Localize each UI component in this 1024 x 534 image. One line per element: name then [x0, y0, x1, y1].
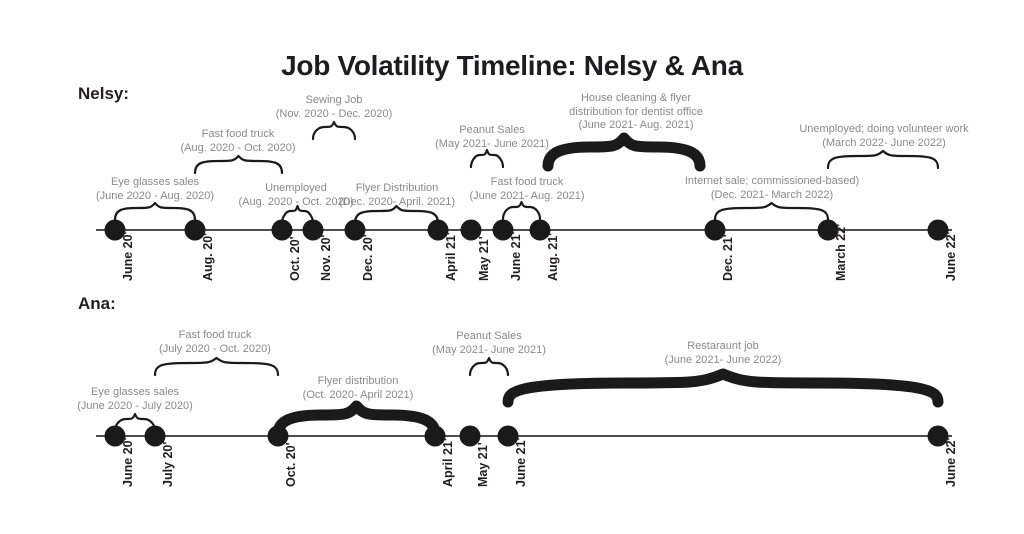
event-dates: (June 2021- Aug. 2021) [470, 190, 585, 204]
timeline-tick-label: Aug. 21' [546, 233, 560, 281]
timeline-tick-label: Aug. 20' [201, 233, 215, 281]
event-brace [195, 154, 282, 177]
timeline-tick-label: June 21' [509, 231, 523, 281]
timeline-tick-label: Dec. 21' [721, 234, 735, 281]
event-brace [115, 201, 195, 224]
event-dates: (June 2021- June 2022) [665, 354, 782, 368]
event-brace [278, 404, 435, 438]
event-brace [471, 148, 503, 171]
timeline-tick-label: April 21' [444, 232, 458, 281]
event-brace [313, 120, 355, 143]
event-title: Unemployed [239, 182, 354, 196]
event-dates: (Oct. 2020- April 2021) [303, 389, 414, 403]
event-dates: (May 2021- June 2021) [435, 138, 549, 152]
event-brace [155, 356, 278, 379]
event-brace [548, 136, 700, 170]
timeline-tick-label: Dec. 20' [361, 234, 375, 281]
timeline-tick-label: June 21' [514, 437, 528, 487]
person-label-ana: Ana: [78, 294, 116, 314]
timeline-tick-label: May 21' [477, 236, 491, 281]
event-dates: (Dec. 2021- March 2022) [685, 189, 859, 203]
timeline-tick-label: April 21' [441, 438, 455, 487]
event-title: House cleaning & flyer [569, 92, 703, 106]
event-title-line2: distribution for dentist office [569, 106, 703, 120]
event-title: Internet sale; commissioned-based) [685, 175, 859, 189]
event-title: Flyer Distribution [339, 182, 455, 196]
event-title: Sewing Job [276, 94, 393, 108]
timeline-tick-label: May 21' [476, 442, 490, 487]
event-brace [715, 201, 828, 224]
timeline-tick-label: June 22' [944, 231, 958, 281]
timeline-tick-label: July 20' [161, 442, 175, 487]
event-title: Eye glasses sales [77, 386, 193, 400]
event-title: Fast food truck [181, 128, 296, 142]
event-dates: (March 2022- June 2022) [799, 137, 968, 151]
timeline-infographic: Job Volatility Timeline: Nelsy & Ana Nel… [0, 0, 1024, 534]
event-dates: (June 2021- Aug. 2021) [569, 119, 703, 133]
event-dates: (June 2020 - July 2020) [77, 400, 193, 414]
event-title: Peanut Sales [432, 330, 546, 344]
page-title: Job Volatility Timeline: Nelsy & Ana [0, 50, 1024, 82]
event-brace [508, 372, 938, 406]
timeline-tick-label: Oct. 20' [284, 442, 298, 487]
event-title: Eye glasses sales [96, 176, 214, 190]
event-title: Flyer distribution [303, 375, 414, 389]
event-title: Fast food truck [470, 176, 585, 190]
event-dates: (Dec. 2020- April. 2021) [339, 196, 455, 210]
timeline-tick-label: Oct. 20' [288, 236, 302, 281]
event-title: Unemployed; doing volunteer work [799, 123, 968, 137]
event-title: Fast food truck [159, 329, 271, 343]
event-dates: (Aug. 2020 - Oct. 2020) [181, 142, 296, 156]
person-label-nelsy: Nelsy: [78, 84, 129, 104]
event-dates: (Aug. 2020 - Oct. 2020) [239, 196, 354, 210]
event-dates: (May 2021- June 2021) [432, 344, 546, 358]
timeline-tick-label: June 20' [121, 437, 135, 487]
event-title: Peanut Sales [435, 124, 549, 138]
timeline-tick-label: Nov. 20' [319, 234, 333, 281]
event-title: Restaraunt job [665, 340, 782, 354]
event-dates: (June 2020 - Aug. 2020) [96, 190, 214, 204]
event-dates: (Nov. 2020 - Dec. 2020) [276, 108, 393, 122]
timeline-tick-label: June 22' [944, 437, 958, 487]
event-dates: (July 2020 - Oct. 2020) [159, 343, 271, 357]
timeline-tick-label: March 22' [834, 224, 848, 281]
event-brace [470, 356, 508, 379]
timeline-tick-label: June 20' [121, 231, 135, 281]
event-brace [828, 149, 938, 172]
